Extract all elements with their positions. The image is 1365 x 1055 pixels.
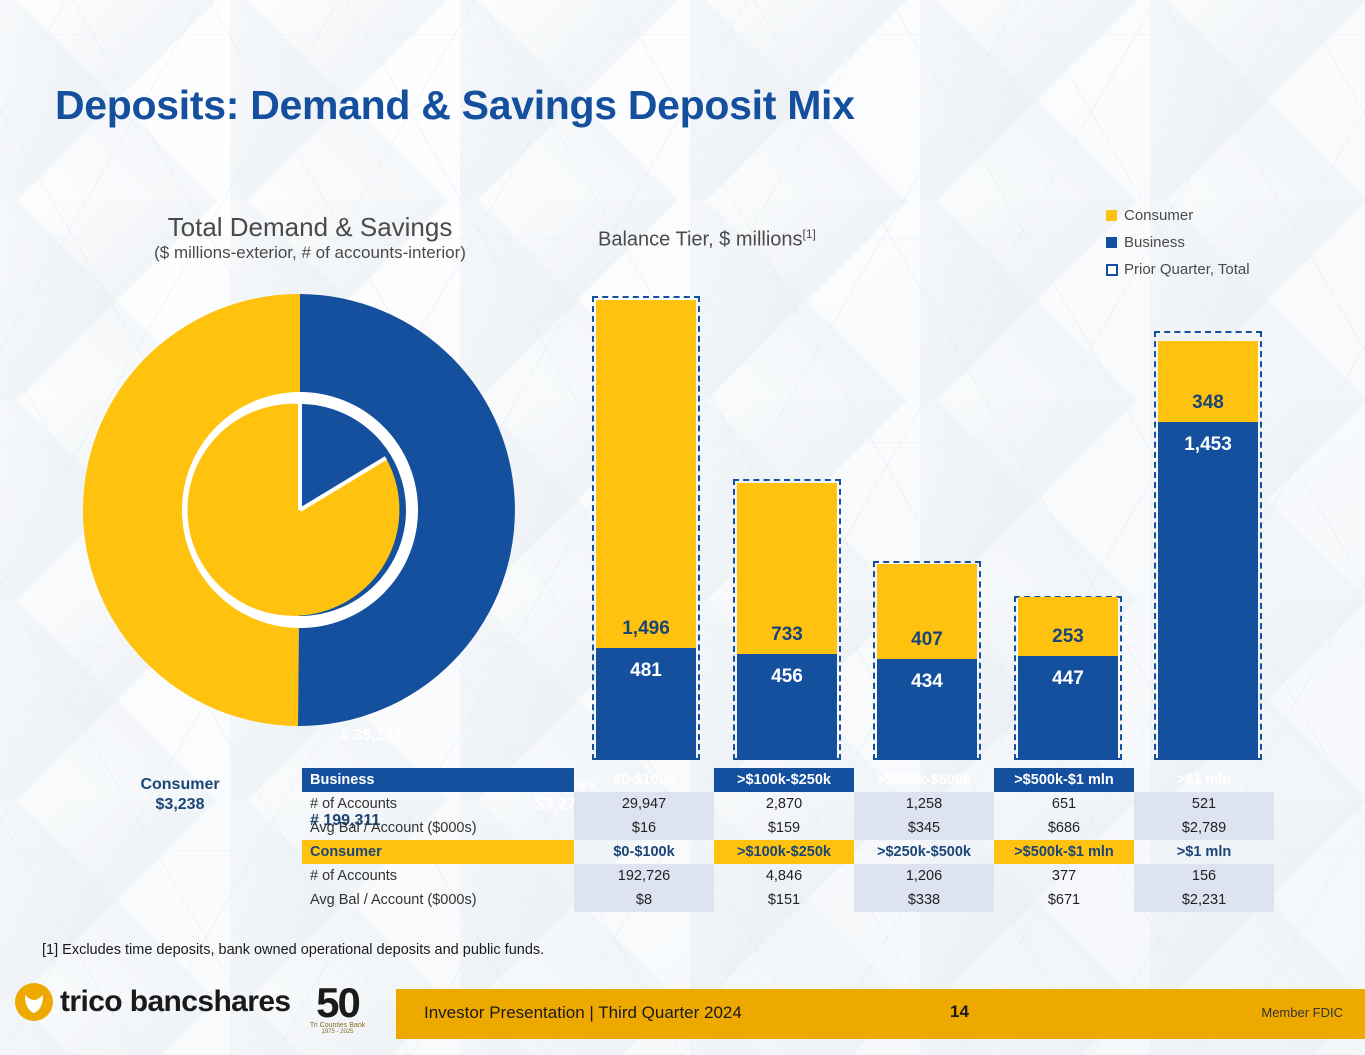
- legend-swatch-business-icon: [1106, 237, 1117, 248]
- table-cell: $2,789: [1134, 816, 1274, 840]
- bar-chart-title-footnote-ref: [1]: [803, 227, 816, 241]
- table-cell: 521: [1134, 792, 1274, 816]
- footer-fdic-label: Member FDIC: [1261, 1005, 1343, 1020]
- bar-value-business-5: 1,453: [1184, 434, 1232, 456]
- bar-segment-business-4[interactable]: 447: [1018, 656, 1118, 760]
- table-cell: $338: [854, 888, 994, 912]
- bar-segment-consumer-2[interactable]: 733: [737, 483, 837, 654]
- donut-chart: Consumer $3,238 Business $3,271 # 35,247…: [80, 290, 520, 730]
- footnote: [1] Excludes time deposits, bank owned o…: [42, 942, 544, 958]
- bar-segment-business-3[interactable]: 434: [877, 659, 977, 760]
- table-cell: 4,846: [714, 864, 854, 888]
- table-header-business-tier-3: >$250k-$500k: [854, 768, 994, 792]
- bar-segment-consumer-1[interactable]: 1,496: [596, 300, 696, 648]
- legend-label-consumer: Consumer: [1124, 207, 1193, 224]
- table-cell: $159: [714, 816, 854, 840]
- table-cell: $345: [854, 816, 994, 840]
- table-cell: 1,206: [854, 864, 994, 888]
- table-header-business-tier-2: >$100k-$250k: [714, 768, 854, 792]
- table-header-consumer-tier-4: >$500k-$1 mln: [994, 840, 1134, 864]
- donut-label-consumer: Consumer $3,238: [100, 775, 260, 815]
- table-header-business: Business $0-$100k >$100k-$250k >$250k-$5…: [302, 768, 1274, 792]
- bar-value-consumer-3: 407: [911, 629, 943, 651]
- bar-value-business-4: 447: [1052, 668, 1084, 690]
- bar-group-4[interactable]: 253447: [1018, 597, 1118, 760]
- table-cell: $671: [994, 888, 1134, 912]
- brand-logo: trico bancshares: [14, 982, 291, 1022]
- donut-inner-label-business: # 35,247: [340, 727, 402, 745]
- bar-value-business-3: 434: [911, 671, 943, 693]
- slide: Deposits: Demand & Savings Deposit Mix T…: [0, 0, 1365, 1055]
- bar-value-business-2: 456: [771, 666, 803, 688]
- legend-item-business: Business: [1106, 229, 1250, 256]
- table-cell: 377: [994, 864, 1134, 888]
- bar-group-5[interactable]: 3481,453: [1158, 341, 1258, 760]
- balance-tier-table: Business $0-$100k >$100k-$250k >$250k-$5…: [302, 768, 1274, 912]
- table-row-label: # of Accounts: [302, 792, 574, 816]
- table-header-consumer-tier-1: $0-$100k: [574, 840, 714, 864]
- table-cell: 156: [1134, 864, 1274, 888]
- table-cell: 651: [994, 792, 1134, 816]
- table-cell: 2,870: [714, 792, 854, 816]
- trico-leaf-icon: [14, 982, 54, 1022]
- donut-label-consumer-name: Consumer: [100, 775, 260, 795]
- bar-value-consumer-4: 253: [1052, 626, 1084, 648]
- page-title: Deposits: Demand & Savings Deposit Mix: [55, 82, 855, 129]
- table-body: Business $0-$100k >$100k-$250k >$250k-$5…: [302, 768, 1274, 912]
- bar-segment-consumer-3[interactable]: 407: [877, 564, 977, 659]
- anniversary-badge-number: 50: [316, 985, 359, 1021]
- table-header-business-label: Business: [302, 768, 574, 792]
- bar-chart-title: Balance Tier, $ millions[1]: [598, 227, 816, 252]
- table-row: Avg Bal / Account ($000s) $16 $159 $345 …: [302, 816, 1274, 840]
- pie-chart-title: Total Demand & Savings: [75, 212, 545, 243]
- table-header-consumer: Consumer $0-$100k >$100k-$250k >$250k-$5…: [302, 840, 1274, 864]
- brand-name: trico bancshares: [60, 985, 291, 1019]
- table-cell: $2,231: [1134, 888, 1274, 912]
- table-row-label: # of Accounts: [302, 864, 574, 888]
- bar-value-business-1: 481: [630, 660, 662, 682]
- legend-item-consumer: Consumer: [1106, 202, 1250, 229]
- bar-chart-plot-area: 1,4964817334564074342534473481,453: [560, 280, 1300, 760]
- bar-value-consumer-2: 733: [771, 624, 803, 646]
- bar-segment-consumer-4[interactable]: 253: [1018, 597, 1118, 656]
- bar-group-3[interactable]: 407434: [877, 564, 977, 760]
- bar-chart-legend: Consumer Business Prior Quarter, Total: [1106, 202, 1250, 283]
- table-row-label: Avg Bal / Account ($000s): [302, 816, 574, 840]
- anniversary-badge-icon: 50 Tri Counties Bank 1975 - 2025: [290, 974, 385, 1046]
- bar-group-1[interactable]: 1,496481: [596, 300, 696, 760]
- bar-segment-consumer-5[interactable]: 348: [1158, 341, 1258, 422]
- table-cell: $16: [574, 816, 714, 840]
- table-header-business-tier-1: $0-$100k: [574, 768, 714, 792]
- bar-value-consumer-1: 1,496: [622, 618, 670, 640]
- legend-swatch-prior-quarter-icon: [1106, 264, 1118, 276]
- table-cell: $151: [714, 888, 854, 912]
- bar-segment-business-1[interactable]: 481: [596, 648, 696, 760]
- table-row-label: Avg Bal / Account ($000s): [302, 888, 574, 912]
- table-header-consumer-tier-2: >$100k-$250k: [714, 840, 854, 864]
- anniversary-badge-sub: Tri Counties Bank: [310, 1022, 365, 1029]
- legend-label-business: Business: [1124, 234, 1185, 251]
- table-cell: 29,947: [574, 792, 714, 816]
- table-header-consumer-label: Consumer: [302, 840, 574, 864]
- table-header-business-tier-5: >$1 mln: [1134, 768, 1274, 792]
- bar-group-2[interactable]: 733456: [737, 483, 837, 760]
- table-header-business-tier-4: >$500k-$1 mln: [994, 768, 1134, 792]
- donut-label-consumer-value: $3,238: [100, 795, 260, 815]
- table-cell: $8: [574, 888, 714, 912]
- table-cell: 1,258: [854, 792, 994, 816]
- legend-item-prior-quarter: Prior Quarter, Total: [1106, 256, 1250, 283]
- table-header-consumer-tier-5: >$1 mln: [1134, 840, 1274, 864]
- donut-chart-svg: [80, 290, 520, 730]
- bar-chart-title-text: Balance Tier, $ millions: [598, 229, 803, 251]
- table-row: # of Accounts 192,726 4,846 1,206 377 15…: [302, 864, 1274, 888]
- legend-swatch-consumer-icon: [1106, 210, 1117, 221]
- table-header-consumer-tier-3: >$250k-$500k: [854, 840, 994, 864]
- table-row: # of Accounts 29,947 2,870 1,258 651 521: [302, 792, 1274, 816]
- table-cell: $686: [994, 816, 1134, 840]
- bar-value-consumer-5: 348: [1192, 392, 1224, 414]
- table-row: Avg Bal / Account ($000s) $8 $151 $338 $…: [302, 888, 1274, 912]
- table-cell: 192,726: [574, 864, 714, 888]
- anniversary-badge-years: 1975 - 2025: [321, 1029, 353, 1035]
- pie-chart-subtitle: ($ millions-exterior, # of accounts-inte…: [75, 243, 545, 263]
- bar-segment-business-5[interactable]: 1,453: [1158, 422, 1258, 760]
- footer-presentation-label: Investor Presentation | Third Quarter 20…: [424, 1003, 742, 1023]
- bar-segment-business-2[interactable]: 456: [737, 654, 837, 760]
- footer-page-number: 14: [950, 1002, 969, 1022]
- legend-label-prior-quarter: Prior Quarter, Total: [1124, 261, 1250, 278]
